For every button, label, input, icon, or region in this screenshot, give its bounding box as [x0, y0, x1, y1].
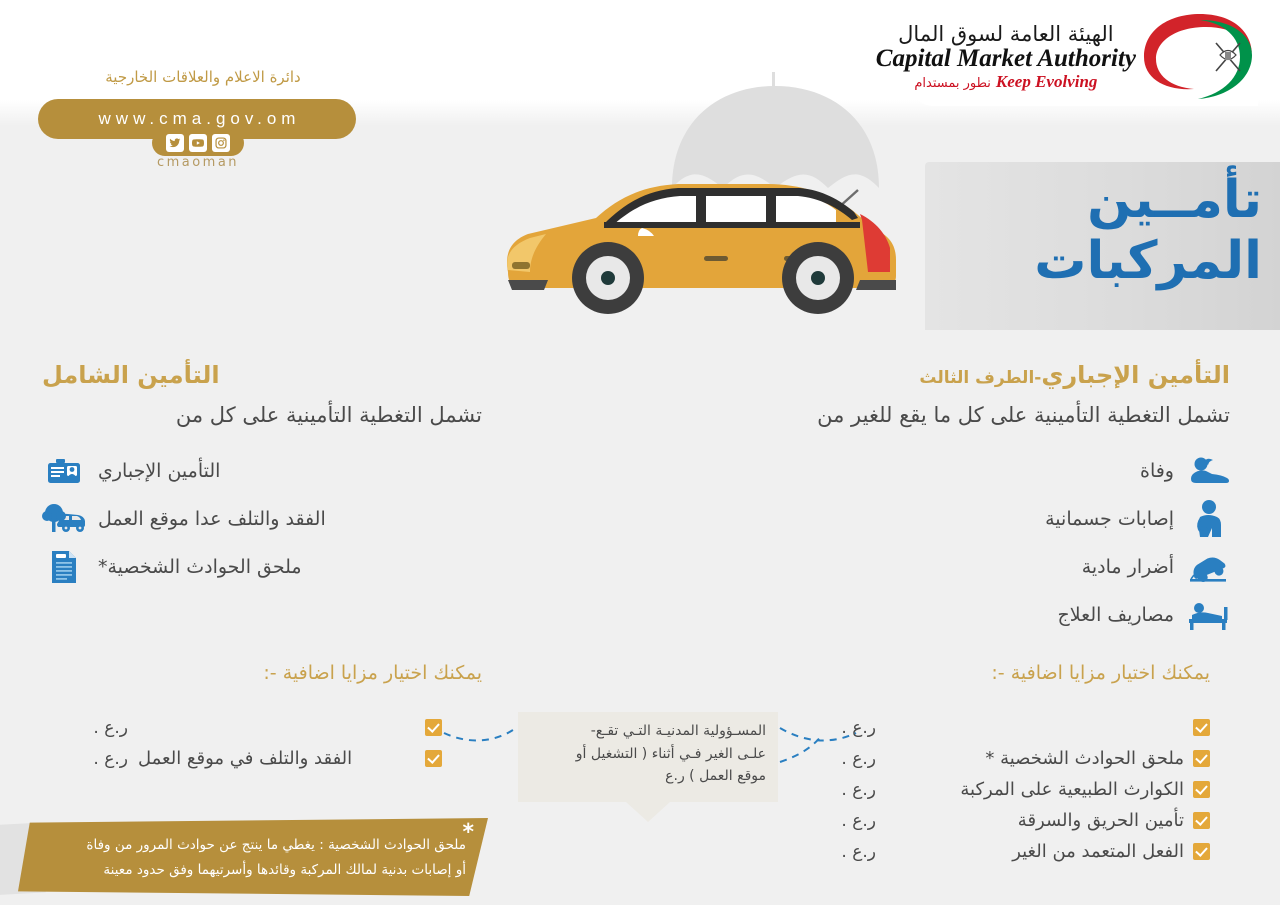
feature-label: إصابات جسمانية: [1045, 508, 1174, 530]
feature-label: أضرار مادية: [1082, 556, 1174, 578]
addon-label: تأمين الحريق والسرقة: [876, 810, 1193, 831]
comprehensive-heading: التأمين الشامل: [42, 362, 482, 388]
department-label: دائرة الاعلام والعلاقات الخارجية: [88, 68, 318, 86]
addon-row[interactable]: ر.ع .: [790, 712, 1210, 743]
infographic-page: الهيئة العامة لسوق المال Capital Market …: [0, 0, 1280, 905]
feature-row: وفاة: [790, 447, 1230, 495]
addon-price: ر.ع .: [790, 780, 876, 800]
feature-row: الفقد والتلف عدا موقع العمل: [42, 495, 482, 543]
addon-price: ر.ع .: [790, 749, 876, 769]
footnote-line-1: ملحق الحوادث الشخصية : يغطي ما ينتج عن ح…: [54, 833, 466, 858]
addon-label: الفقد والتلف في موقع العمل: [128, 748, 425, 769]
checkbox-checked-icon[interactable]: [425, 750, 442, 767]
insurance-card-icon: [42, 451, 86, 491]
feature-label: مصاريف العلاج: [1058, 604, 1174, 626]
footnote-text: ملحق الحوادث الشخصية : يغطي ما ينتج عن ح…: [54, 833, 466, 883]
addon-price: ر.ع .: [42, 749, 128, 769]
property-damage-icon: [1186, 547, 1230, 587]
cma-logo: الهيئة العامة لسوق المال Capital Market …: [908, 8, 1258, 106]
cma-tagline-arabic: نطور بمستدام: [914, 77, 991, 90]
comprehensive-heading-main: التأمين الشامل: [42, 361, 220, 389]
feature-row: أضرار مادية: [790, 543, 1230, 591]
addon-label: الكوارث الطبيعية على المركبة: [876, 779, 1193, 800]
checkbox-checked-icon[interactable]: [1193, 719, 1210, 736]
page-title-line2: المركبات: [1034, 231, 1262, 292]
mandatory-feature-list: وفاة إصابات جسمانية: [790, 447, 1230, 639]
mandatory-heading-main: التأمين الإجباري: [1041, 361, 1230, 389]
youtube-icon[interactable]: [189, 134, 207, 152]
feature-row: ملحق الحوادث الشخصية*: [42, 543, 482, 591]
addon-row[interactable]: ر.ع .: [42, 712, 442, 743]
comprehensive-feature-list: التأمين الإجباري الفقد والتلف عدا: [42, 447, 482, 591]
addon-label: ملحق الحوادث الشخصية *: [876, 748, 1193, 769]
cma-logo-arabic-name: الهيئة العامة لسوق المال: [876, 24, 1136, 45]
comprehensive-addons-title: يمكنك اختيار مزايا اضافية -:: [42, 662, 482, 684]
feature-label: وفاة: [1140, 460, 1174, 482]
addon-row[interactable]: الفعل المتعمد من الغير ر.ع .: [790, 836, 1210, 867]
mandatory-heading: التأمين الإجباري-الطرف الثالث: [790, 362, 1230, 388]
feature-label: التأمين الإجباري: [98, 460, 220, 482]
liability-callout: المسـؤولية المدنيـة التـي تقـع- علـى الغ…: [518, 712, 778, 802]
cma-logo-tagline: نطور بمستدام Keep Evolving: [876, 73, 1136, 90]
feature-row: مصاريف العلاج: [790, 591, 1230, 639]
checkbox-checked-icon[interactable]: [1193, 781, 1210, 798]
checkbox-checked-icon[interactable]: [1193, 843, 1210, 860]
addon-row[interactable]: تأمين الحريق والسرقة ر.ع .: [790, 805, 1210, 836]
callout-tail: [626, 802, 670, 822]
oman-khanjar-emblem-icon: [1136, 11, 1258, 103]
comprehensive-subtitle: تشمل التغطية التأمينية على كل من: [42, 402, 482, 428]
social-handle: cmaoman: [130, 155, 266, 170]
document-icon: [42, 547, 86, 587]
addon-price: ر.ع .: [790, 811, 876, 831]
mandatory-subtitle: تشمل التغطية التأمينية على كل ما يقع للغ…: [790, 402, 1230, 428]
hospital-bed-icon: [1186, 595, 1230, 635]
mandatory-addons-list: ر.ع . ملحق الحوادث الشخصية * ر.ع . الكوا…: [790, 712, 1210, 867]
callout-line-2: علـى الغير فـي أثناء ( التشغيل أو: [530, 743, 766, 766]
feature-row: التأمين الإجباري: [42, 447, 482, 495]
callout-line-1: المسـؤولية المدنيـة التـي تقـع-: [530, 720, 766, 743]
callout-line-3: موقع العمل ) ر.ع: [530, 765, 766, 788]
addon-row[interactable]: ملحق الحوادث الشخصية * ر.ع .: [790, 743, 1210, 774]
feature-label: ملحق الحوادث الشخصية*: [98, 556, 302, 578]
checkbox-checked-icon[interactable]: [1193, 750, 1210, 767]
mandatory-heading-sub: -الطرف الثالث: [919, 368, 1041, 388]
checkbox-checked-icon[interactable]: [425, 719, 442, 736]
feature-row: إصابات جسمانية: [790, 495, 1230, 543]
comprehensive-addons-list: ر.ع . الفقد والتلف في موقع العمل ر.ع .: [42, 712, 442, 774]
comprehensive-insurance-column: التأمين الشامل تشمل التغطية التأمينية عل…: [42, 362, 482, 591]
car-tree-damage-icon: [42, 499, 86, 539]
hero-title-plate: تأمــين المركبات: [925, 162, 1280, 330]
death-person-icon: [1186, 451, 1230, 491]
feature-label: الفقد والتلف عدا موقع العمل: [98, 508, 326, 530]
bodily-injury-icon: [1186, 499, 1230, 539]
addon-price: ر.ع .: [42, 718, 128, 738]
addon-row[interactable]: الفقد والتلف في موقع العمل ر.ع .: [42, 743, 442, 774]
instagram-icon[interactable]: [212, 134, 230, 152]
cma-logo-english-name: Capital Market Authority: [876, 46, 1136, 71]
twitter-icon[interactable]: [166, 134, 184, 152]
social-links-pill: [152, 130, 244, 156]
addon-price: ر.ع .: [790, 842, 876, 862]
website-url-text: www.cma.gov.om: [94, 109, 301, 129]
page-title: تأمــين المركبات: [1034, 170, 1262, 293]
checkbox-checked-icon[interactable]: [1193, 812, 1210, 829]
footnote-line-2: أو إصابات بدنية لمالك المركبة وقائدها وأ…: [54, 858, 466, 883]
page-title-line1: تأمــين: [1034, 170, 1262, 231]
addon-price: ر.ع .: [790, 718, 876, 738]
mandatory-addons-title: يمكنك اختيار مزايا اضافية -:: [790, 662, 1210, 684]
addon-row[interactable]: الكوارث الطبيعية على المركبة ر.ع .: [790, 774, 1210, 805]
footnote-banner: * ملحق الحوادث الشخصية : يغطي ما ينتج عن…: [18, 818, 488, 896]
addon-label: الفعل المتعمد من الغير: [876, 841, 1193, 862]
cma-logo-text: الهيئة العامة لسوق المال Capital Market …: [876, 24, 1136, 90]
cma-tagline-english: Keep Evolving: [996, 73, 1098, 90]
mandatory-insurance-column: التأمين الإجباري-الطرف الثالث تشمل التغط…: [790, 362, 1230, 639]
orange-car-side-view-icon: [500, 160, 930, 325]
